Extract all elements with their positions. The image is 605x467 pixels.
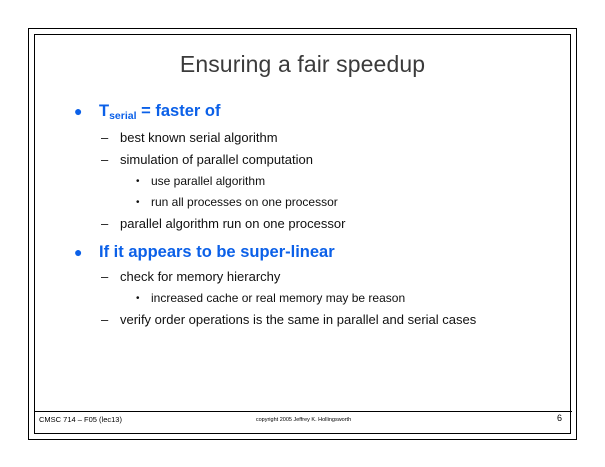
- bullet-text-suffix: = faster of: [137, 102, 221, 120]
- bullet-item-level1: ● Tserial = faster of: [35, 101, 572, 124]
- bullet-text-subscript: serial: [109, 110, 136, 122]
- bullet-text: parallel algorithm run on one processor: [120, 216, 345, 231]
- dash-bullet-icon: –: [101, 149, 108, 171]
- dot-bullet-icon: •: [136, 192, 140, 213]
- slide-inner-frame: Ensuring a fair speedup ● Tserial = fast…: [34, 34, 571, 434]
- dash-bullet-icon: –: [101, 127, 108, 149]
- bullet-text: increased cache or real memory may be re…: [151, 291, 405, 305]
- dash-bullet-icon: –: [101, 266, 108, 288]
- bullet-text: use parallel algorithm: [151, 174, 265, 188]
- page-number: 6: [557, 413, 562, 423]
- bullet-text: simulation of parallel computation: [120, 152, 313, 167]
- slide-footer: CMSC 714 – F05 (lec13) copyright 2005 Je…: [35, 411, 572, 433]
- bullet-text: If it appears to be super-linear: [99, 243, 335, 261]
- bullet-item-level2: – check for memory hierarchy: [35, 266, 572, 288]
- page-title: Ensuring a fair speedup: [35, 51, 570, 78]
- dot-bullet-icon: •: [136, 171, 140, 192]
- disc-bullet-icon: ●: [74, 101, 82, 122]
- slide-page: Ensuring a fair speedup ● Tserial = fast…: [0, 0, 605, 467]
- dash-bullet-icon: –: [101, 309, 108, 331]
- bullet-text: run all processes on one processor: [151, 195, 338, 209]
- footer-copyright: copyright 2005 Jeffrey K. Hollingsworth: [35, 417, 572, 423]
- bullet-text-prefix: T: [99, 102, 109, 120]
- bullet-item-level3: • use parallel algorithm: [35, 171, 572, 192]
- disc-bullet-icon: ●: [74, 242, 82, 263]
- bullet-item-level1: ● If it appears to be super-linear: [35, 242, 572, 263]
- bullet-item-level2: – best known serial algorithm: [35, 127, 572, 149]
- bullet-item-level2: – verify order operations is the same in…: [35, 309, 572, 331]
- bullet-list: ● Tserial = faster of – best known seria…: [35, 101, 572, 331]
- bullet-text: best known serial algorithm: [120, 130, 278, 145]
- footer-divider: [35, 411, 572, 412]
- bullet-item-level3: • run all processes on one processor: [35, 192, 572, 213]
- bullet-item-level3: • increased cache or real memory may be …: [35, 288, 572, 309]
- dot-bullet-icon: •: [136, 288, 140, 309]
- bullet-text: verify order operations is the same in p…: [120, 312, 476, 327]
- bullet-item-level2: – parallel algorithm run on one processo…: [35, 213, 572, 235]
- bullet-item-level2: – simulation of parallel computation: [35, 149, 572, 171]
- dash-bullet-icon: –: [101, 213, 108, 235]
- bullet-text: check for memory hierarchy: [120, 269, 280, 284]
